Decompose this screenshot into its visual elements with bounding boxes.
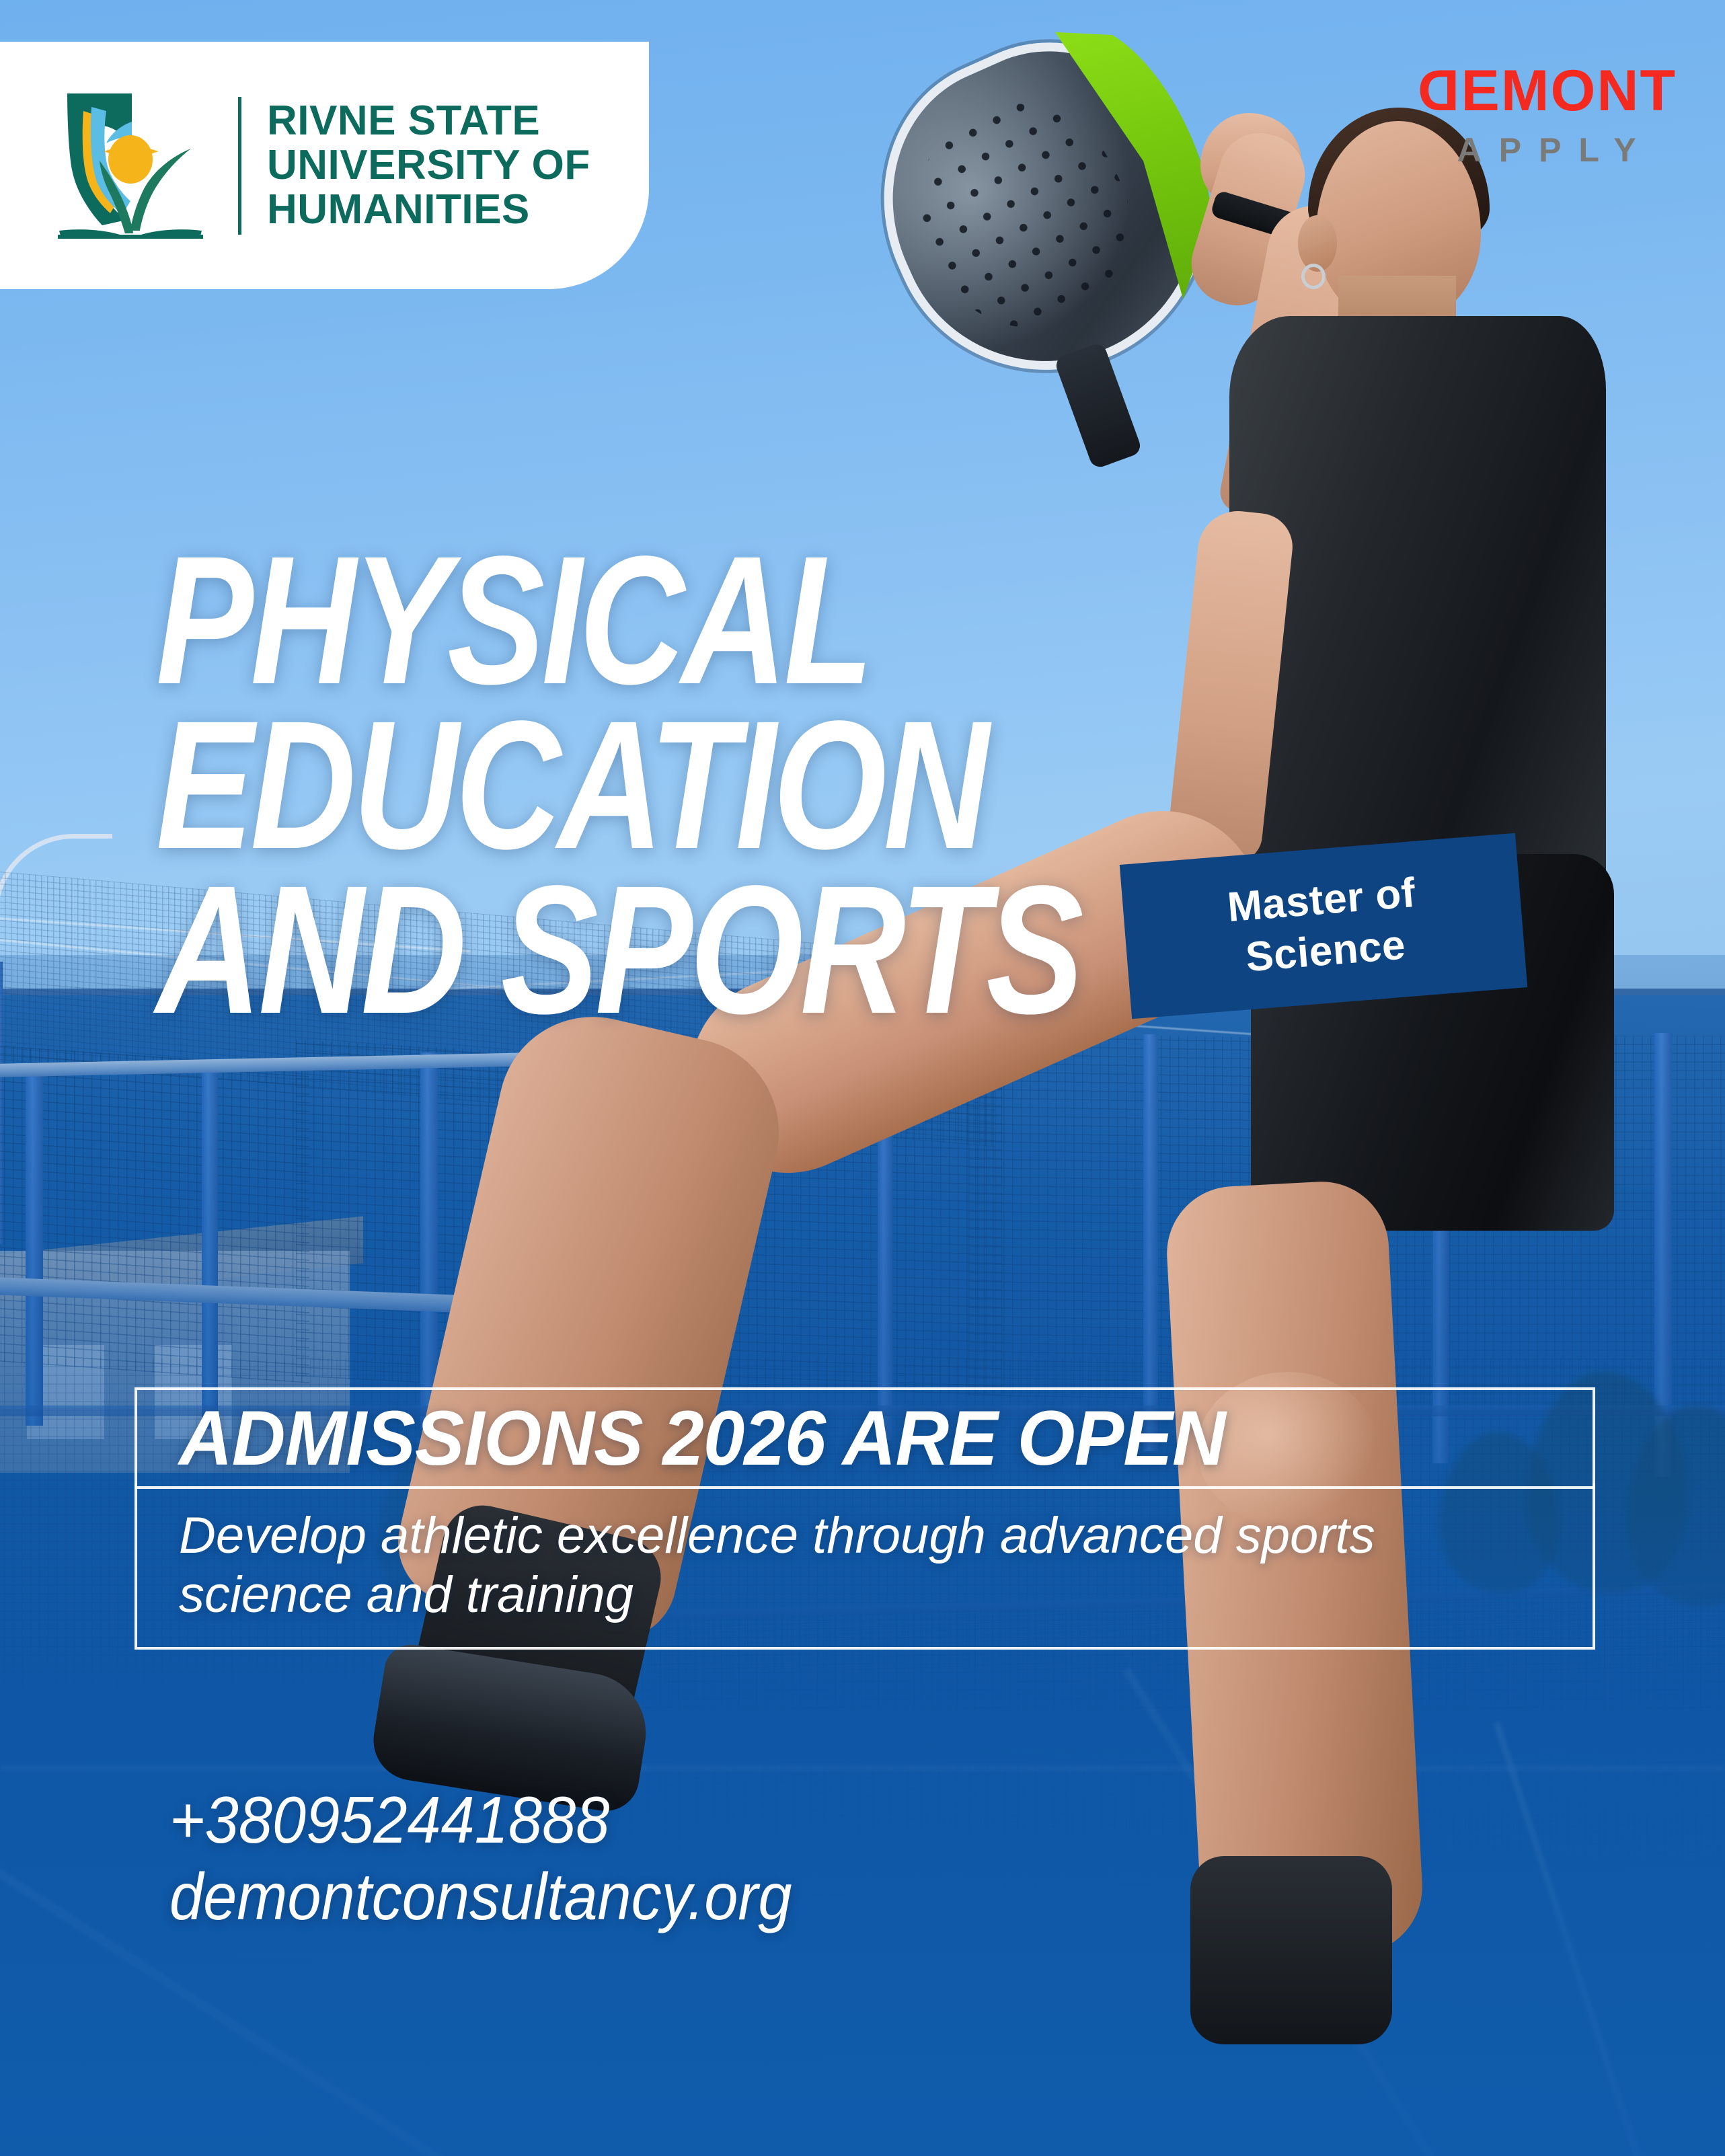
university-name-line-3: HUMANITIES [267,188,590,232]
university-logo-card: RIVNE STATE UNIVERSITY OF HUMANITIES [0,42,649,289]
contact-info: +380952441888 demontconsultancy.org [169,1782,792,1935]
headline-line-2: EDUCATION [156,703,1178,868]
degree-badge: Master of Science [1120,833,1528,1019]
page-title: PHYSICAL EDUCATION AND SPORTS [156,538,1178,1032]
player-shirt [1229,316,1606,921]
logo-divider [238,97,241,235]
demont-d-glyph-icon: D [1416,62,1459,120]
admissions-subtitle-box: Develop athletic excellence through adva… [135,1484,1595,1650]
padel-player-photo [962,0,1725,2156]
demont-wordmark-rest: EMONT [1461,62,1677,120]
university-name-line-2: UNIVERSITY OF [267,143,590,188]
headline-line-3: AND SPORTS [156,868,1178,1032]
admissions-banner-text: ADMISSIONS 2026 ARE OPEN [179,1394,1225,1483]
player-earring [1301,264,1326,289]
demont-apply-logo: DEMONT APPLY [1416,62,1677,169]
admissions-banner: ADMISSIONS 2026 ARE OPEN [135,1387,1595,1489]
headline-line-1: PHYSICAL [156,538,1178,703]
book-leaf-graduation-emblem-icon [52,81,207,249]
university-name: RIVNE STATE UNIVERSITY OF HUMANITIES [267,99,590,231]
admissions-poster: RIVNE STATE UNIVERSITY OF HUMANITIES DEM… [0,0,1725,2156]
player-back-sock [1190,1856,1392,2044]
contact-phone[interactable]: +380952441888 [169,1782,792,1859]
player-ear [1298,215,1337,272]
contact-website[interactable]: demontconsultancy.org [169,1859,792,1935]
university-name-line-1: RIVNE STATE [267,99,590,143]
racket-handle [1053,342,1143,470]
demont-wordmark: DEMONT [1416,62,1677,120]
apply-wordmark: APPLY [1434,130,1677,169]
admissions-subtitle-text: Develop athletic excellence through adva… [179,1506,1552,1624]
